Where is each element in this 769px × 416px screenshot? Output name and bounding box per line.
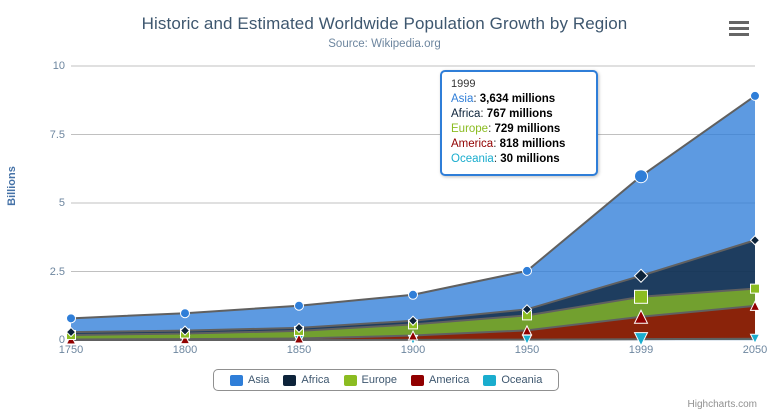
tooltip-row: Oceania: 30 millions bbox=[451, 152, 587, 167]
y-axis-title: Billions bbox=[6, 146, 18, 226]
legend-item-asia[interactable]: Asia bbox=[230, 374, 269, 386]
tooltip-series-name: Asia bbox=[451, 93, 473, 105]
chart-subtitle: Source: Wikipedia.org bbox=[0, 38, 769, 50]
chart-plot-svg bbox=[71, 66, 755, 340]
legend-swatch-icon bbox=[230, 375, 243, 386]
hamburger-bar bbox=[729, 33, 749, 36]
tooltip-series-name: America bbox=[451, 138, 493, 150]
y-tick-label: 5 bbox=[25, 198, 65, 209]
credits-label[interactable]: Highcharts.com bbox=[688, 399, 757, 410]
data-point-asia[interactable] bbox=[635, 170, 648, 183]
chart-legend: AsiaAfricaEuropeAmericaOceania bbox=[213, 369, 559, 391]
data-point-asia[interactable] bbox=[295, 301, 304, 310]
legend-label: Oceania bbox=[501, 374, 542, 386]
tooltip-value: 3,634 millions bbox=[480, 93, 555, 105]
hamburger-menu-icon[interactable] bbox=[726, 17, 752, 39]
x-tick-label: 1750 bbox=[41, 344, 101, 356]
tooltip-row: America: 818 millions bbox=[451, 137, 587, 152]
data-point-asia[interactable] bbox=[523, 266, 532, 275]
x-tick-label: 2050 bbox=[725, 344, 769, 356]
tooltip-header: 1999 bbox=[451, 78, 587, 90]
legend-swatch-icon bbox=[283, 375, 296, 386]
x-tick-label: 1950 bbox=[497, 344, 557, 356]
legend-label: Europe bbox=[362, 374, 397, 386]
data-point-asia[interactable] bbox=[751, 91, 760, 100]
plot-area bbox=[71, 66, 755, 340]
tooltip-series-name: Europe bbox=[451, 123, 488, 135]
tooltip-row: Africa: 767 millions bbox=[451, 107, 587, 122]
legend-item-africa[interactable]: Africa bbox=[283, 374, 329, 386]
chart-tooltip: 1999 Asia: 3,634 millionsAfrica: 767 mil… bbox=[440, 70, 598, 176]
hamburger-bar bbox=[729, 21, 749, 24]
tooltip-rows: Asia: 3,634 millionsAfrica: 767 millions… bbox=[451, 92, 587, 167]
x-tick-label: 1800 bbox=[155, 344, 215, 356]
tooltip-row: Asia: 3,634 millions bbox=[451, 92, 587, 107]
legend-label: America bbox=[429, 374, 469, 386]
tooltip-series-name: Oceania bbox=[451, 153, 494, 165]
hamburger-bar bbox=[729, 27, 749, 30]
tooltip-series-name: Africa bbox=[451, 108, 480, 120]
chart-title: Historic and Estimated Worldwide Populat… bbox=[0, 14, 769, 34]
data-point-asia[interactable] bbox=[67, 314, 76, 323]
data-point-europe[interactable] bbox=[635, 290, 648, 303]
x-axis: 1750180018501900195019992050 bbox=[0, 344, 769, 364]
data-point-asia[interactable] bbox=[181, 309, 190, 318]
x-tick-label: 1850 bbox=[269, 344, 329, 356]
x-tick-label: 1900 bbox=[383, 344, 443, 356]
legend-item-oceania[interactable]: Oceania bbox=[483, 374, 542, 386]
y-tick-label: 10 bbox=[25, 61, 65, 72]
y-tick-label: 7.5 bbox=[25, 130, 65, 141]
highcharts-container: Historic and Estimated Worldwide Populat… bbox=[0, 0, 769, 416]
tooltip-value: 30 millions bbox=[500, 153, 559, 165]
tooltip-value: 767 millions bbox=[487, 108, 553, 120]
legend-item-america[interactable]: America bbox=[411, 374, 469, 386]
data-point-asia[interactable] bbox=[409, 290, 418, 299]
legend-swatch-icon bbox=[411, 375, 424, 386]
y-tick-label: 2.5 bbox=[25, 267, 65, 278]
tooltip-row: Europe: 729 millions bbox=[451, 122, 587, 137]
legend-item-europe[interactable]: Europe bbox=[344, 374, 397, 386]
legend-swatch-icon bbox=[344, 375, 357, 386]
legend-label: Asia bbox=[248, 374, 269, 386]
legend-label: Africa bbox=[301, 374, 329, 386]
legend-swatch-icon bbox=[483, 375, 496, 386]
tooltip-value: 729 millions bbox=[494, 123, 560, 135]
tooltip-value: 818 millions bbox=[500, 138, 566, 150]
data-point-europe[interactable] bbox=[751, 284, 760, 293]
